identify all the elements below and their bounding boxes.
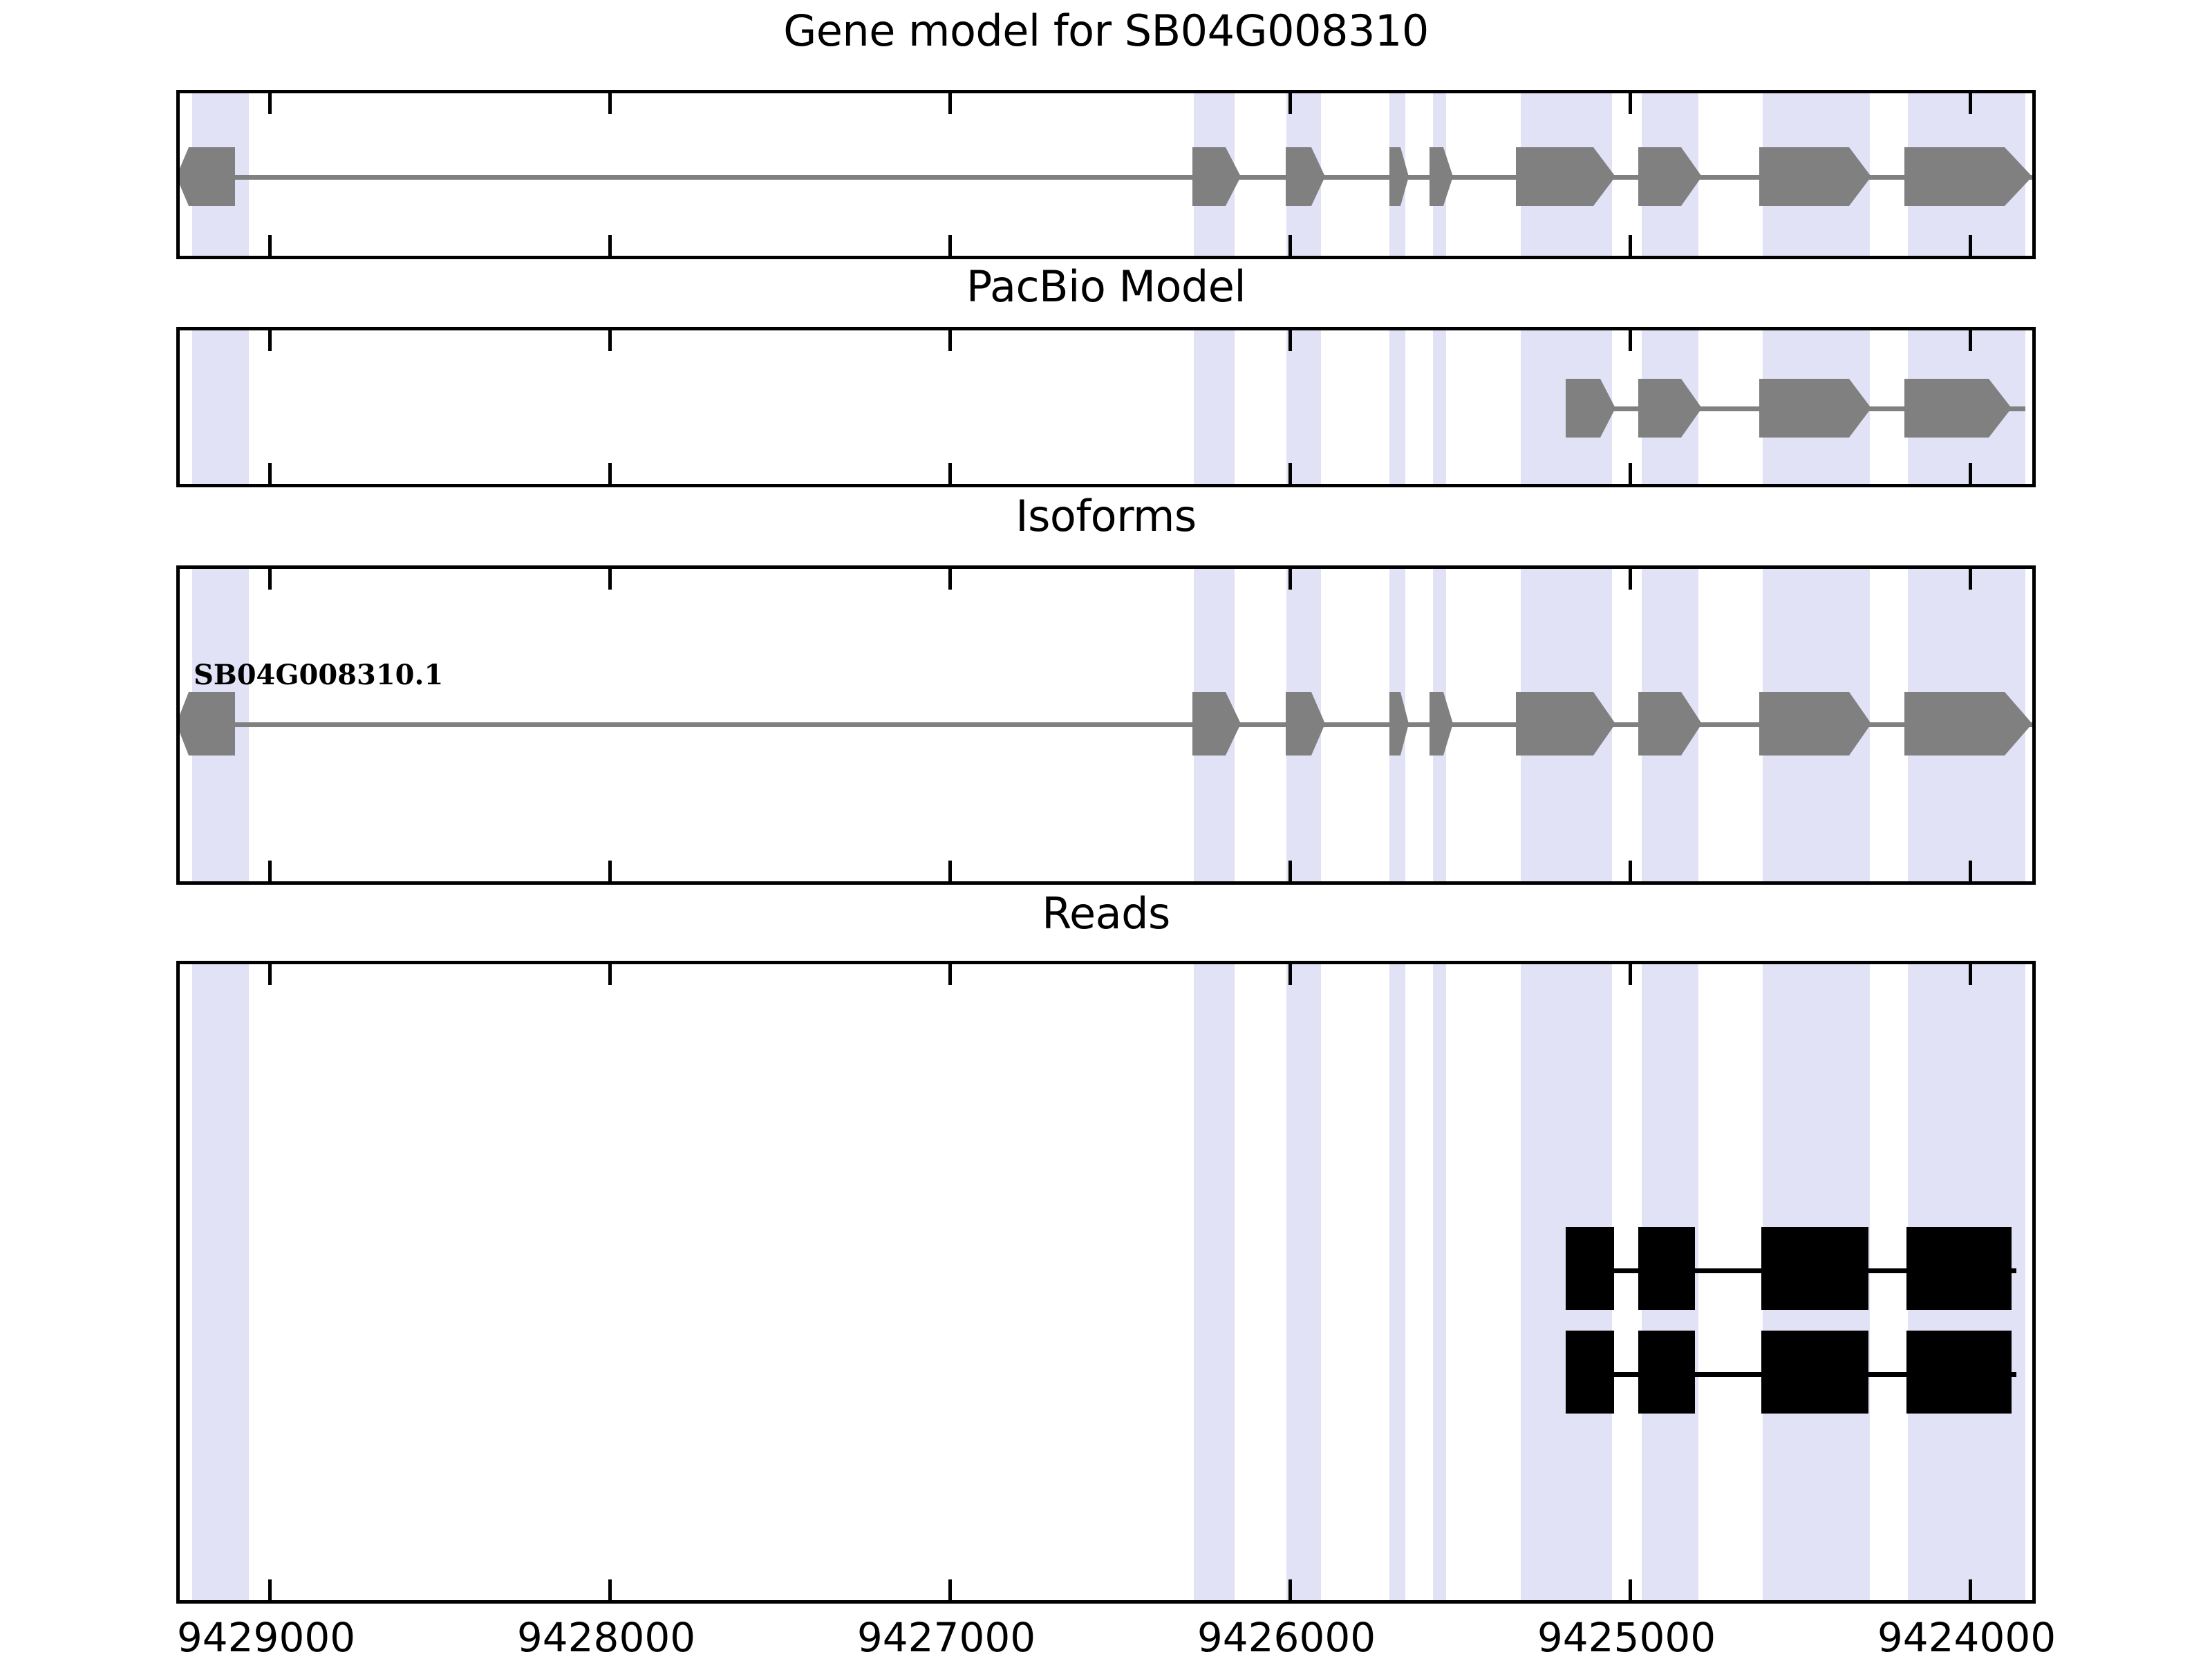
pacbio-model-title: PacBio Model [176, 261, 2036, 312]
highlight-band [192, 964, 249, 1600]
axis-tick [1288, 964, 1292, 985]
axis-tick [948, 964, 952, 985]
intron-line [180, 175, 2032, 180]
read-block[interactable] [1761, 1227, 1868, 1310]
axis-tick-label: 9426000 [1197, 1614, 1376, 1661]
axis-tick-label: 9429000 [177, 1614, 355, 1661]
axis-tick [1288, 235, 1292, 256]
axis-tick [268, 964, 272, 985]
read-block[interactable] [1638, 1227, 1695, 1310]
read-block[interactable] [1761, 1331, 1868, 1414]
highlight-band [192, 330, 249, 484]
axis-tick [1969, 93, 1972, 114]
exon[interactable] [1430, 692, 1453, 756]
axis-tick-label: 9424000 [1877, 1614, 2056, 1661]
axis-tick [268, 235, 272, 256]
axis-tick [268, 93, 272, 114]
exon[interactable] [1192, 692, 1241, 756]
highlight-band [1194, 964, 1235, 1600]
axis-tick [608, 330, 612, 351]
reads-panel[interactable] [176, 961, 2036, 1604]
exon[interactable] [1904, 379, 2012, 438]
axis-tick [1969, 235, 1972, 256]
exon[interactable] [176, 147, 235, 206]
gene-model-title: Gene model for SB04G008310 [176, 6, 2036, 56]
exon[interactable] [1430, 147, 1453, 206]
exon[interactable] [1759, 692, 1871, 756]
axis-tick [1629, 861, 1632, 881]
read-block[interactable] [1906, 1331, 2012, 1414]
exon[interactable] [1286, 147, 1325, 206]
axis-tick [1629, 330, 1632, 351]
axis-tick [1288, 861, 1292, 881]
axis-tick [268, 330, 272, 351]
gene-model-figure: Gene model for SB04G008310 [0, 0, 2212, 1659]
intron-line [180, 722, 2032, 727]
pacbio-model-panel[interactable] [176, 327, 2036, 487]
axis-tick [268, 569, 272, 590]
axis-tick [1969, 463, 1972, 484]
axis-tick [948, 463, 952, 484]
axis-tick [948, 330, 952, 351]
axis-tick [948, 235, 952, 256]
axis-tick [1288, 93, 1292, 114]
axis-tick [268, 1579, 272, 1600]
exon[interactable] [1566, 379, 1615, 438]
read-block[interactable] [1906, 1227, 2012, 1310]
axis-tick [948, 1579, 952, 1600]
exon[interactable] [1516, 147, 1615, 206]
axis-tick [1629, 1579, 1632, 1600]
exon[interactable] [1759, 379, 1871, 438]
axis-tick [608, 1579, 612, 1600]
axis-tick [1969, 330, 1972, 351]
read-block[interactable] [1638, 1331, 1695, 1414]
axis-tick [1969, 964, 1972, 985]
axis-tick [608, 235, 612, 256]
isoforms-title: Isoforms [176, 491, 2036, 541]
exon[interactable] [1192, 147, 1241, 206]
exon[interactable] [1638, 147, 1702, 206]
axis-tick [608, 93, 612, 114]
axis-tick [1629, 93, 1632, 114]
axis-tick [608, 861, 612, 881]
isoform-label: SB04G008310.1 [194, 659, 443, 691]
axis-tick [608, 463, 612, 484]
highlight-band [1286, 330, 1321, 484]
axis-tick [268, 861, 272, 881]
highlight-band [1286, 964, 1321, 1600]
exon[interactable] [1638, 692, 1702, 756]
exon[interactable] [1759, 147, 1871, 206]
highlight-band [1433, 964, 1446, 1600]
axis-tick [608, 964, 612, 985]
highlight-band [1389, 964, 1405, 1600]
axis-tick [948, 569, 952, 590]
axis-tick [1288, 463, 1292, 484]
isoforms-panel[interactable]: SB04G008310.1 [176, 565, 2036, 885]
axis-tick [1288, 569, 1292, 590]
exon[interactable] [1389, 692, 1409, 756]
exon[interactable] [1904, 147, 2032, 206]
axis-tick-label: 9427000 [857, 1614, 1035, 1661]
exon[interactable] [1286, 692, 1325, 756]
axis-tick [608, 569, 612, 590]
exon[interactable] [1904, 692, 2032, 756]
highlight-band [1194, 330, 1235, 484]
exon[interactable] [1638, 379, 1702, 438]
axis-tick [1969, 861, 1972, 881]
highlight-band [1389, 330, 1405, 484]
axis-tick [1629, 235, 1632, 256]
axis-tick [1288, 330, 1292, 351]
axis-tick-label: 9425000 [1537, 1614, 1716, 1661]
read-block[interactable] [1566, 1227, 1614, 1310]
reads-title: Reads [176, 888, 2036, 939]
exon[interactable] [1516, 692, 1615, 756]
axis-tick [1629, 569, 1632, 590]
axis-tick [948, 93, 952, 114]
axis-tick [1629, 964, 1632, 985]
axis-tick [1969, 1579, 1972, 1600]
axis-tick [1969, 569, 1972, 590]
read-block[interactable] [1566, 1331, 1614, 1414]
axis-tick [268, 463, 272, 484]
highlight-band [1433, 330, 1446, 484]
axis-tick-label: 9428000 [517, 1614, 695, 1661]
axis-tick [1629, 463, 1632, 484]
exon[interactable] [1389, 147, 1409, 206]
exon[interactable] [176, 692, 235, 756]
gene-model-panel[interactable] [176, 90, 2036, 259]
axis-tick [1288, 1579, 1292, 1600]
axis-tick [948, 861, 952, 881]
